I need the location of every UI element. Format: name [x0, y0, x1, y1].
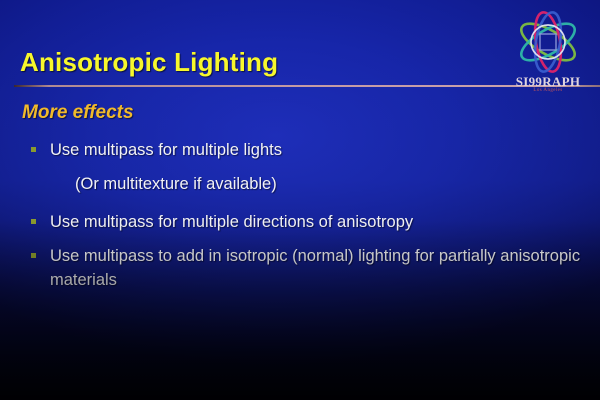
- bullet-dot-icon: [28, 210, 50, 224]
- bullet-dot-icon: [28, 244, 50, 258]
- siggraph-rings-icon: [500, 8, 596, 80]
- slide-subtitle: More effects: [22, 102, 134, 124]
- list-item: (Or multitexture if available): [28, 172, 584, 196]
- siggraph-city-label: Los Angeles: [500, 88, 596, 93]
- page-title: Anisotropic Lighting: [20, 47, 278, 78]
- list-item-label: Use multipass for multiple lights: [50, 138, 584, 162]
- list-item: Use multipass to add in isotropic (norma…: [28, 244, 584, 292]
- siggraph-logo: SI99RAPH Los Angeles: [500, 8, 596, 104]
- bullet-list: Use multipass for multiple lights (Or mu…: [28, 138, 584, 302]
- bullet-spacer-icon: [28, 172, 50, 186]
- list-item-label: Use multipass to add in isotropic (norma…: [50, 244, 584, 292]
- slide: Anisotropic Lighting More effects Use mu…: [0, 0, 600, 400]
- bullet-dot-icon: [28, 138, 50, 152]
- list-item: Use multipass for multiple directions of…: [28, 210, 584, 234]
- list-item: Use multipass for multiple lights: [28, 138, 584, 162]
- list-item-label: Use multipass for multiple directions of…: [50, 210, 584, 234]
- list-item-label: (Or multitexture if available): [50, 172, 584, 196]
